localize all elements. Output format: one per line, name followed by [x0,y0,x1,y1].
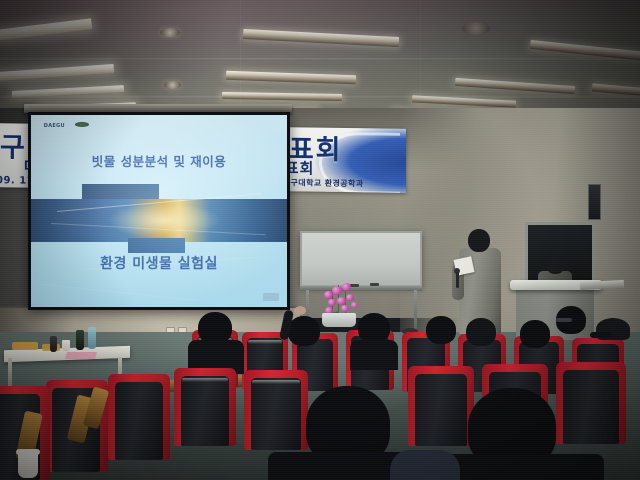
audience-head [426,316,456,344]
whiteboard-leg [414,290,417,332]
seat-gloss [182,378,228,382]
ceiling-light [592,83,640,96]
presenter-standing-head [468,229,490,252]
audience-head [520,320,550,348]
ceiling-light [0,64,114,81]
ceiling-vent-icon [462,22,490,35]
foreground-audience-body [436,454,604,480]
slide-ray [44,284,197,301]
pink-napkin [65,352,97,359]
presentation-slide: DAEGU 빗물 성분분석 및 재이용 환경 미생물 실험실 [31,115,287,307]
cap-brim [590,332,612,338]
audience-hand [294,306,306,315]
water-bottle [88,327,96,349]
whiteboard-marker [350,284,359,287]
seat-back [415,374,467,446]
dark-can [50,336,57,352]
slide-logo-text: DAEGU [44,123,65,129]
orchid-bloom [341,305,349,312]
foreground-shoulder [390,450,460,480]
seat-back [563,370,619,444]
orchid-bloom [342,283,351,291]
eyeglasses-icon [556,318,572,322]
slide-band-tab-lower [128,238,184,253]
presenter-at-podium-head [546,254,565,274]
coffee-cup-lid [16,449,40,455]
table-leg [8,358,12,386]
projection-screen: DAEGU 빗물 성분분석 및 재이용 환경 미생물 실험실 [28,112,290,310]
seat-back [115,382,163,460]
ceiling-light [412,95,516,107]
paper-cup [62,340,70,351]
slide-title: 빗물 성분분석 및 재이용 [31,151,287,170]
audience-head [288,316,320,346]
dark-bottle [76,330,84,350]
orchid-bloom [328,299,336,306]
seat-gloss [252,380,300,384]
wall-loudspeaker [588,184,601,220]
orchid-bloom [346,294,354,301]
ceiling-light [243,29,399,47]
whiteboard-marker [370,283,379,286]
slide-subtitle: 환경 미생물 실험실 [31,253,287,273]
slide-corner-mark [263,293,279,301]
flower-arrangement [330,285,350,315]
ceiling-light [226,71,356,85]
orchid-bloom [332,286,342,295]
ceiling-light [0,18,92,41]
downlight-icon [164,81,181,89]
audience-body [350,340,398,370]
seat-back [181,376,229,446]
audience-head [466,318,496,346]
seat-gloss [248,340,282,344]
whiteboard-tray [300,286,422,291]
audience-head [358,313,390,343]
slide-band-glow [31,199,287,241]
microphone-stem [456,272,459,288]
ceiling-light [12,85,124,98]
orchid-bloom [337,297,346,305]
auditorium-photo: 구대 발표회 대구 발표회 09. 11. 20(금 : 대구대학교 환경공학과… [0,0,640,480]
snack-plate [12,342,38,350]
slide-logo-mark-icon [75,122,89,127]
flower-pot [322,313,356,327]
downlight-icon [160,28,180,37]
seat-back [251,378,301,450]
whiteboard [300,231,422,287]
ceiling-light [530,40,640,61]
orchid-bloom [351,302,358,308]
coffee-cup [18,452,38,478]
ceiling-light [222,92,342,101]
ceiling-light [455,78,575,94]
